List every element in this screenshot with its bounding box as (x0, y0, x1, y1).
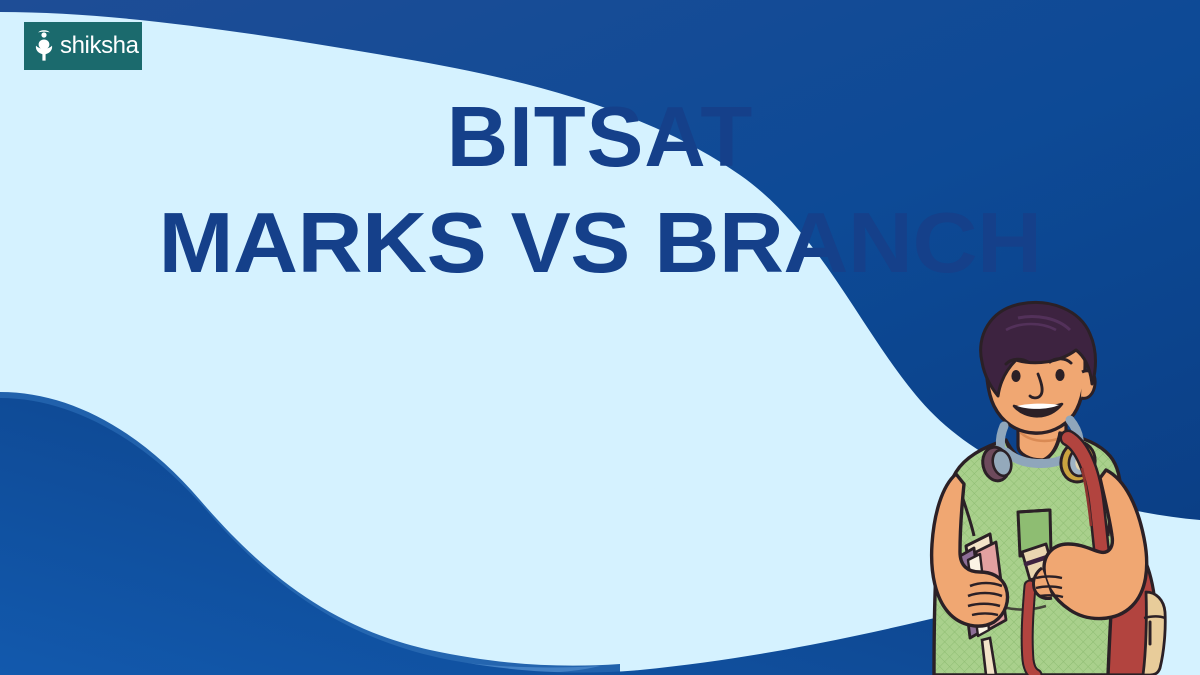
logo-wordmark: shiksha (60, 34, 139, 58)
page-title: BITSAT MARKS VS BRANCH (0, 96, 1200, 289)
title-line-1: BITSAT (0, 96, 1200, 179)
student-illustration (910, 300, 1200, 675)
eye-right (1055, 369, 1064, 381)
student-figure (932, 302, 1166, 675)
title-line-2: MARKS VS BRANCH (0, 199, 1200, 288)
head (981, 302, 1096, 433)
lotus-flame-icon (31, 29, 57, 63)
eye-left (1011, 370, 1020, 382)
banner-canvas: shiksha BITSAT MARKS VS BRANCH (0, 0, 1200, 675)
shiksha-logo[interactable]: shiksha (24, 22, 142, 70)
